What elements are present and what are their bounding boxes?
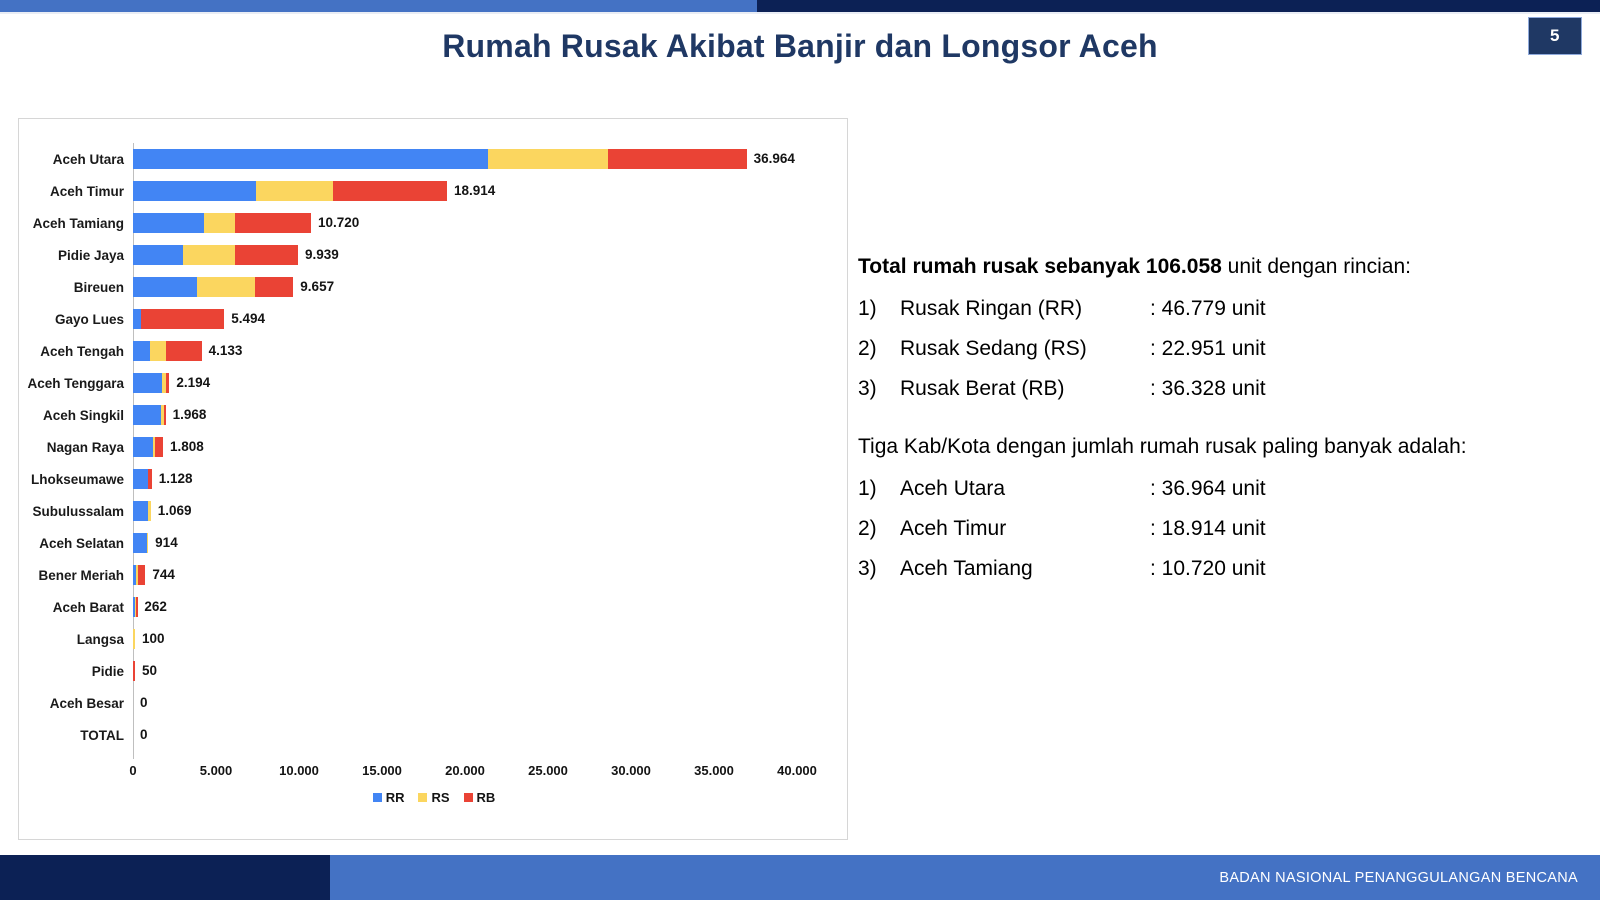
breakdown-item: 3)Rusak Berat (RB): 36.328 unit: [858, 377, 1578, 401]
top-hairline-divider: [0, 12, 1600, 14]
chart-category-label: Aceh Tenggara: [19, 376, 133, 391]
legend-label: RB: [477, 790, 496, 805]
chart-bar-area: 50: [133, 655, 849, 687]
chart-bar-segment-rb: [136, 597, 138, 617]
chart-bar-area: 1.128: [133, 463, 849, 495]
chart-bar-segment-rr: [133, 469, 148, 489]
legend-swatch-icon: [418, 793, 427, 802]
chart-bar-segment-rr: [133, 277, 197, 297]
chart-bar-area: 2.194: [133, 367, 849, 399]
chart-bar-segment-rb: [255, 277, 294, 297]
chart-x-tick: 25.000: [528, 763, 568, 778]
top-region-item-value: : 36.964 unit: [1150, 477, 1266, 501]
chart-bar-segment-rb: [235, 213, 311, 233]
chart-bar-segment-rr: [133, 213, 204, 233]
chart-panel: Aceh Utara36.964Aceh Timur18.914Aceh Tam…: [18, 118, 848, 840]
chart-row: Aceh Singkil1.968: [19, 399, 849, 431]
chart-x-tick: 20.000: [445, 763, 485, 778]
chart-bar-area: 9.939: [133, 239, 849, 271]
chart-row: Bireuen9.657: [19, 271, 849, 303]
chart-bar-area: 18.914: [133, 175, 849, 207]
chart-bar-area: 0: [133, 719, 849, 751]
chart-row: TOTAL0: [19, 719, 849, 751]
legend-label: RS: [431, 790, 449, 805]
chart-category-label: Pidie: [19, 664, 133, 679]
chart-bar-segment-rb: [608, 149, 746, 169]
chart-value-label: 4.133: [209, 341, 243, 361]
chart-bar-segment-rr: [133, 181, 256, 201]
chart-stacked-bar: [133, 149, 747, 169]
chart-row: Aceh Tenggara2.194: [19, 367, 849, 399]
chart-bar-area: 9.657: [133, 271, 849, 303]
legend-swatch-icon: [373, 793, 382, 802]
chart-category-label: Bener Meriah: [19, 568, 133, 583]
breakdown-item-value: : 36.328 unit: [1150, 377, 1266, 401]
chart-row: Lhokseumawe1.128: [19, 463, 849, 495]
chart-x-tick: 0: [129, 763, 136, 778]
chart-bar-segment-rb: [166, 373, 170, 393]
chart-stacked-bar: [133, 437, 163, 457]
chart-bar-segment-rb: [235, 245, 298, 265]
top-accent-bar-dark: [757, 0, 1600, 12]
chart-stacked-bar: [133, 277, 293, 297]
chart-category-label: Gayo Lues: [19, 312, 133, 327]
page-title: Rumah Rusak Akibat Banjir dan Longsor Ac…: [0, 28, 1600, 65]
top-region-item-label: Aceh Utara: [900, 477, 1150, 501]
chart-bar-segment-rb: [164, 405, 166, 425]
top-region-item-number: 2): [858, 517, 900, 541]
chart-value-label: 9.939: [305, 245, 339, 265]
breakdown-item-value: : 22.951 unit: [1150, 337, 1266, 361]
chart-bar-segment-rr: [133, 501, 148, 521]
chart-row: Gayo Lues5.494: [19, 303, 849, 335]
top-region-item-value: : 18.914 unit: [1150, 517, 1266, 541]
top-accent-bar-light: [0, 0, 757, 12]
chart-stacked-bar: [133, 469, 152, 489]
chart-stacked-bar: [133, 181, 447, 201]
chart-stacked-bar: [133, 213, 311, 233]
chart-row: Pidie Jaya9.939: [19, 239, 849, 271]
chart-value-label: 100: [142, 629, 165, 649]
top-region-item-number: 3): [858, 557, 900, 581]
chart-bar-area: 0: [133, 687, 849, 719]
chart-category-label: Lhokseumawe: [19, 472, 133, 487]
chart-stacked-bar: [133, 533, 148, 553]
chart-category-label: Nagan Raya: [19, 440, 133, 455]
chart-category-label: Langsa: [19, 632, 133, 647]
top-region-item-number: 1): [858, 477, 900, 501]
chart-value-label: 1.808: [170, 437, 204, 457]
footer-band-dark: [0, 855, 330, 900]
chart-bar-segment-rb: [155, 437, 163, 457]
footer-organization-label: BADAN NASIONAL PENANGGULANGAN BENCANA: [1219, 855, 1578, 900]
chart-category-label: Aceh Besar: [19, 696, 133, 711]
chart-x-tick: 30.000: [611, 763, 651, 778]
total-summary-rest: unit dengan rincian:: [1228, 255, 1411, 278]
chart-category-label: Aceh Tamiang: [19, 216, 133, 231]
chart-bar-segment-rb: [148, 469, 152, 489]
breakdown-item-number: 3): [858, 377, 900, 401]
breakdown-item: 1)Rusak Ringan (RR): 46.779 unit: [858, 297, 1578, 321]
chart-stacked-bar: [133, 341, 202, 361]
chart-x-tick: 15.000: [362, 763, 402, 778]
chart-value-label: 1.069: [158, 501, 192, 521]
chart-value-label: 2.194: [176, 373, 210, 393]
chart-bar-segment-rr: [133, 437, 153, 457]
chart-bar-area: 10.720: [133, 207, 849, 239]
chart-category-label: TOTAL: [19, 728, 133, 743]
chart-x-tick: 5.000: [200, 763, 233, 778]
chart-legend: RRRSRB: [19, 785, 849, 809]
chart-bar-segment-rr: [133, 405, 161, 425]
chart-stacked-bar: [133, 501, 151, 521]
chart-bar-area: 1.808: [133, 431, 849, 463]
top-region-item-label: Aceh Timur: [900, 517, 1150, 541]
chart-category-label: Pidie Jaya: [19, 248, 133, 263]
chart-category-label: Aceh Singkil: [19, 408, 133, 423]
chart-bar-segment-rs: [183, 245, 234, 265]
chart-row: Pidie50: [19, 655, 849, 687]
chart-bar-segment-rr: [133, 373, 162, 393]
chart-row: Subulussalam1.069: [19, 495, 849, 527]
chart-bar-area: 5.494: [133, 303, 849, 335]
chart-row: Aceh Selatan914: [19, 527, 849, 559]
chart-bar-area: 1.968: [133, 399, 849, 431]
chart-category-label: Subulussalam: [19, 504, 133, 519]
chart-bar-segment-rb: [138, 565, 146, 585]
chart-value-label: 0: [140, 725, 148, 745]
chart-value-label: 50: [142, 661, 157, 681]
chart-bar-segment-rs: [204, 213, 236, 233]
chart-stacked-bar: [133, 565, 145, 585]
breakdown-item-number: 2): [858, 337, 900, 361]
chart-stacked-bar: [133, 245, 298, 265]
legend-item-rb[interactable]: RB: [464, 790, 496, 805]
chart-bar-segment-rb: [133, 661, 135, 681]
chart-bar-area: 36.964: [133, 143, 849, 175]
chart-row: Bener Meriah744: [19, 559, 849, 591]
legend-item-rr[interactable]: RR: [373, 790, 405, 805]
chart-value-label: 18.914: [454, 181, 495, 201]
damage-breakdown-list: 1)Rusak Ringan (RR): 46.779 unit2)Rusak …: [858, 297, 1578, 401]
breakdown-item: 2)Rusak Sedang (RS): 22.951 unit: [858, 337, 1578, 361]
chart-bar-segment-rs: [133, 629, 135, 649]
legend-swatch-icon: [464, 793, 473, 802]
chart-value-label: 914: [155, 533, 178, 553]
chart-row: Aceh Utara36.964: [19, 143, 849, 175]
chart-row: Aceh Besar0: [19, 687, 849, 719]
breakdown-item-label: Rusak Ringan (RR): [900, 297, 1150, 321]
top-region-item: 1)Aceh Utara: 36.964 unit: [858, 477, 1578, 501]
total-summary-line: Total rumah rusak sebanyak 106.058 unit …: [858, 255, 1578, 279]
chart-bar-segment-rr: [133, 245, 183, 265]
summary-panel: Total rumah rusak sebanyak 106.058 unit …: [858, 255, 1578, 597]
top-region-item-value: : 10.720 unit: [1150, 557, 1266, 581]
chart-row: Nagan Raya1.808: [19, 431, 849, 463]
chart-stacked-bar: [133, 661, 135, 681]
chart-bar-area: 744: [133, 559, 849, 591]
chart-bar-segment-rr: [133, 149, 488, 169]
chart-bar-segment-rb: [141, 309, 224, 329]
chart-stacked-bar: [133, 373, 169, 393]
chart-row: Aceh Timur18.914: [19, 175, 849, 207]
breakdown-item-number: 1): [858, 297, 900, 321]
chart-bar-segment-rs: [148, 501, 150, 521]
breakdown-item-value: : 46.779 unit: [1150, 297, 1266, 321]
legend-label: RR: [386, 790, 405, 805]
chart-bar-segment-rs: [147, 533, 149, 553]
chart-bar-area: 914: [133, 527, 849, 559]
chart-bar-area: 1.069: [133, 495, 849, 527]
chart-category-label: Aceh Utara: [19, 152, 133, 167]
chart-bar-segment-rr: [133, 309, 141, 329]
chart-value-label: 0: [140, 693, 148, 713]
chart-bar-segment-rb: [333, 181, 447, 201]
chart-x-tick: 35.000: [694, 763, 734, 778]
chart-bar-segment-rb: [166, 341, 201, 361]
top-regions-list: 1)Aceh Utara: 36.964 unit2)Aceh Timur: 1…: [858, 477, 1578, 581]
chart-value-label: 36.964: [754, 149, 795, 169]
top-regions-heading: Tiga Kab/Kota dengan jumlah rumah rusak …: [858, 435, 1578, 459]
chart-row: Aceh Tengah4.133: [19, 335, 849, 367]
chart-bar-segment-rs: [150, 341, 167, 361]
chart-plot-area: Aceh Utara36.964Aceh Timur18.914Aceh Tam…: [19, 119, 847, 839]
top-region-item-label: Aceh Tamiang: [900, 557, 1150, 581]
top-region-item: 3)Aceh Tamiang: 10.720 unit: [858, 557, 1578, 581]
chart-value-label: 1.968: [173, 405, 207, 425]
chart-bar-area: 4.133: [133, 335, 849, 367]
total-summary-bold: Total rumah rusak sebanyak 106.058: [858, 255, 1222, 278]
chart-bar-segment-rs: [197, 277, 254, 297]
chart-stacked-bar: [133, 597, 138, 617]
chart-row: Langsa100: [19, 623, 849, 655]
chart-row: Aceh Barat262: [19, 591, 849, 623]
chart-value-label: 744: [152, 565, 175, 585]
chart-stacked-bar: [133, 405, 166, 425]
chart-category-label: Aceh Selatan: [19, 536, 133, 551]
chart-value-label: 1.128: [159, 469, 193, 489]
chart-value-label: 5.494: [231, 309, 265, 329]
chart-category-label: Aceh Timur: [19, 184, 133, 199]
breakdown-item-label: Rusak Berat (RB): [900, 377, 1150, 401]
chart-stacked-bar: [133, 309, 224, 329]
chart-row: Aceh Tamiang10.720: [19, 207, 849, 239]
chart-bar-segment-rs: [256, 181, 333, 201]
chart-bar-segment-rs: [488, 149, 609, 169]
top-region-item: 2)Aceh Timur: 18.914 unit: [858, 517, 1578, 541]
chart-value-label: 262: [144, 597, 167, 617]
chart-bar-segment-rr: [133, 341, 150, 361]
chart-bar-area: 100: [133, 623, 849, 655]
chart-category-label: Aceh Barat: [19, 600, 133, 615]
chart-x-tick: 40.000: [777, 763, 817, 778]
chart-bar-area: 262: [133, 591, 849, 623]
chart-bar-segment-rr: [133, 533, 147, 553]
legend-item-rs[interactable]: RS: [418, 790, 449, 805]
breakdown-item-label: Rusak Sedang (RS): [900, 337, 1150, 361]
chart-category-label: Bireuen: [19, 280, 133, 295]
chart-value-label: 10.720: [318, 213, 359, 233]
chart-x-tick: 10.000: [279, 763, 319, 778]
chart-stacked-bar: [133, 629, 135, 649]
chart-category-label: Aceh Tengah: [19, 344, 133, 359]
chart-value-label: 9.657: [300, 277, 334, 297]
